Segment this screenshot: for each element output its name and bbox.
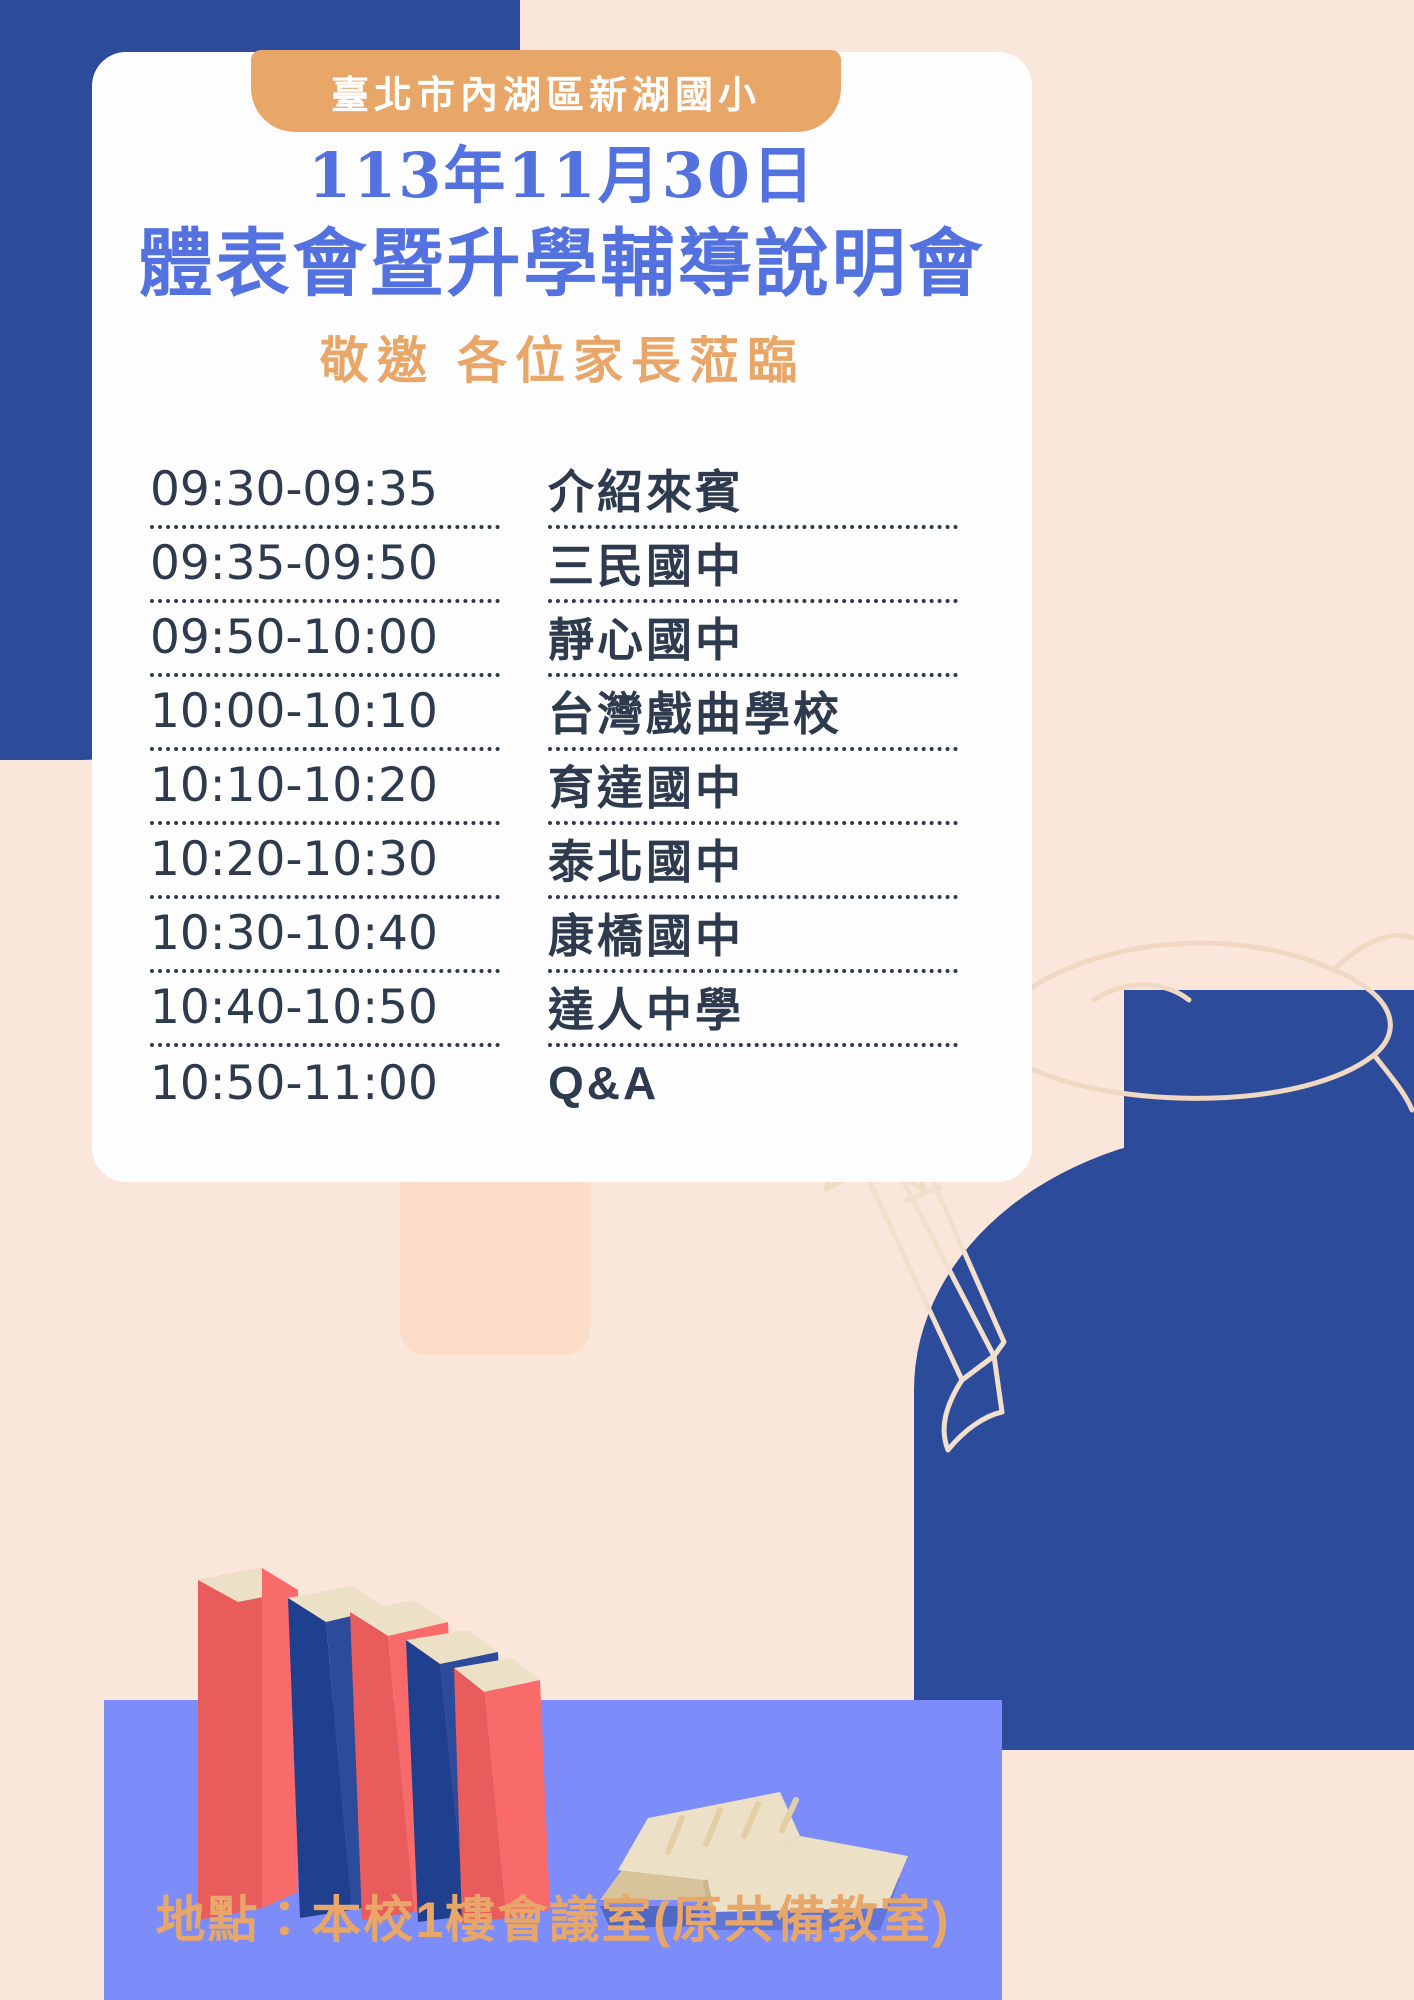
table-row: 泰北國中 (548, 825, 958, 899)
table-row: 10:30-10:40 (150, 899, 500, 973)
schedule-item-column: 介紹來賓 三民國中 靜心國中 台灣戲曲學校 育達國中 泰北國中 康橋國中 達人中… (548, 455, 958, 1121)
table-row: 10:40-10:50 (150, 973, 500, 1047)
schedule-time: 10:10-10:20 (150, 758, 438, 813)
table-row: 10:10-10:20 (150, 751, 500, 825)
table-row: 10:00-10:10 (150, 677, 500, 751)
table-row: 10:50-11:00 (150, 1047, 500, 1121)
table-row: 09:50-10:00 (150, 603, 500, 677)
title-block: 113年11月30日 體表會暨升學輔導說明會 敬邀 各位家長蒞臨 (92, 130, 1032, 394)
school-name: 臺北市內湖區新湖國小 (331, 64, 761, 119)
table-row: 介紹來賓 (548, 455, 958, 529)
schedule-table: 09:30-09:35 09:35-09:50 09:50-10:00 10:0… (150, 455, 1010, 1121)
schedule-time-column: 09:30-09:35 09:35-09:50 09:50-10:00 10:0… (150, 455, 500, 1121)
invitation-line: 敬邀 各位家長蒞臨 (92, 329, 1032, 394)
table-row: 靜心國中 (548, 603, 958, 677)
schedule-time: 09:35-09:50 (150, 536, 438, 591)
table-row: Q&A (548, 1047, 958, 1121)
table-row: 康橋國中 (548, 899, 958, 973)
table-row: 育達國中 (548, 751, 958, 825)
schedule-item: 育達國中 (548, 752, 744, 818)
school-name-ribbon: 臺北市內湖區新湖國小 (251, 50, 841, 132)
table-row: 09:30-09:35 (150, 455, 500, 529)
venue-block: 地點：本校1樓會議室(原共備教室) (104, 1880, 1002, 1952)
schedule-item: 靜心國中 (548, 604, 744, 670)
schedule-item: 三民國中 (548, 530, 744, 596)
table-row: 台灣戲曲學校 (548, 677, 958, 751)
venue-text: 地點：本校1樓會議室(原共備教室) (155, 1892, 950, 1948)
schedule-item: 台灣戲曲學校 (548, 678, 842, 744)
table-row: 09:35-09:50 (150, 529, 500, 603)
schedule-item: 介紹來賓 (548, 456, 744, 522)
schedule-time: 09:50-10:00 (150, 610, 438, 665)
schedule-time: 10:50-11:00 (150, 1056, 438, 1111)
page-title: 體表會暨升學輔導說明會 (92, 218, 1032, 311)
schedule-time: 09:30-09:35 (150, 462, 438, 517)
schedule-time: 10:40-10:50 (150, 980, 438, 1035)
schedule-time: 10:20-10:30 (150, 832, 438, 887)
table-row: 達人中學 (548, 973, 958, 1047)
fish-icon (974, 880, 1414, 1140)
schedule-time: 10:00-10:10 (150, 684, 438, 739)
schedule-item: 康橋國中 (548, 900, 744, 966)
schedule-item: 達人中學 (548, 974, 744, 1040)
schedule-time: 10:30-10:40 (150, 906, 438, 961)
event-date: 113年11月30日 (92, 142, 1032, 210)
table-row: 10:20-10:30 (150, 825, 500, 899)
table-row: 三民國中 (548, 529, 958, 603)
schedule-item: Q&A (548, 1056, 659, 1110)
schedule-item: 泰北國中 (548, 826, 744, 892)
